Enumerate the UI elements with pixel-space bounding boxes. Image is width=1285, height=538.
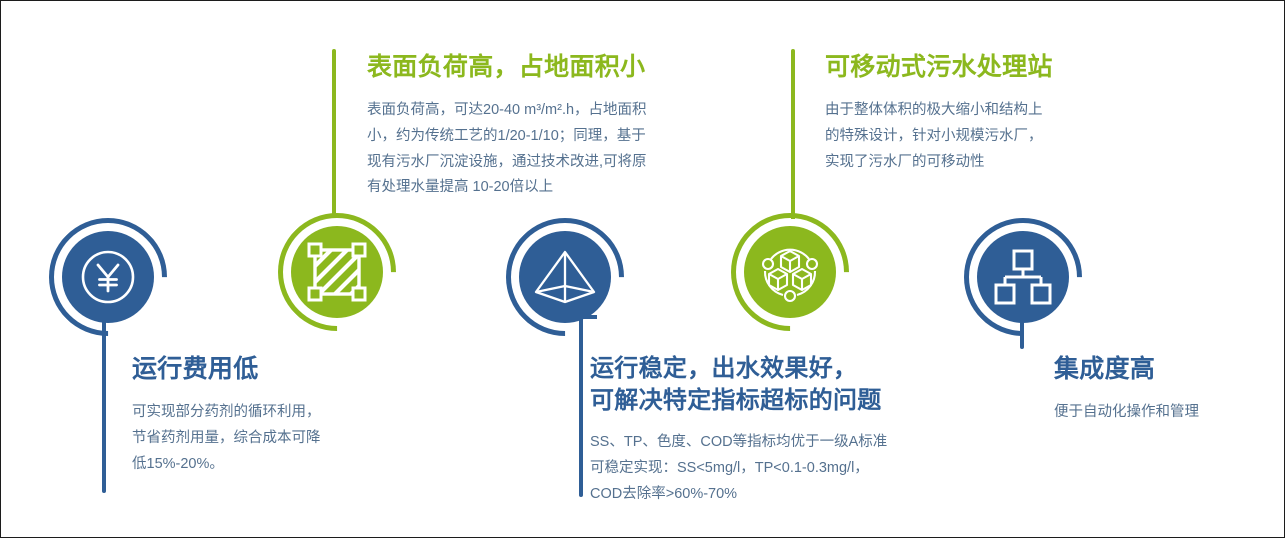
block-body: 便于自动化操作和管理	[1054, 400, 1284, 426]
icon-badge-surface-load	[278, 213, 396, 331]
hierarchy-tree-icon	[977, 231, 1069, 323]
text-block-integration: 集成度高 便于自动化操作和管理	[1054, 353, 1284, 426]
block-title: 运行稳定，出水效果好， 可解决特定指标超标的问题	[590, 353, 990, 416]
cubes-network-icon	[744, 226, 836, 318]
pyramid-wireframe-icon	[519, 231, 611, 323]
text-block-mobile-station: 可移动式污水处理站 由于整体体积的极大缩小和结构上 的特殊设计，针对小规模污水厂…	[825, 51, 1155, 175]
text-block-cost: 运行费用低 可实现部分药剂的循环利用， 节省药剂用量，综合成本可降 低15%-2…	[132, 353, 392, 477]
block-body: 可实现部分药剂的循环利用， 节省药剂用量，综合成本可降 低15%-20%。	[132, 400, 392, 477]
block-body: 表面负荷高，可达20-40 m³/m².h，占地面积 小，约为传统工艺的1/20…	[367, 98, 717, 201]
block-title: 可移动式污水处理站	[825, 51, 1155, 84]
icon-badge-integration	[964, 218, 1082, 336]
block-body: SS、TP、色度、COD等指标均优于一级A标准 可稳定实现：SS<5mg/l，T…	[590, 430, 990, 507]
block-title: 表面负荷高，占地面积小	[367, 51, 717, 84]
footprint-area-icon	[291, 226, 383, 318]
text-block-surface-load: 表面负荷高，占地面积小 表面负荷高，可达20-40 m³/m².h，占地面积 小…	[367, 51, 717, 201]
block-body: 由于整体体积的极大缩小和结构上 的特殊设计，针对小规模污水厂， 实现了污水厂的可…	[825, 98, 1155, 175]
icon-badge-stability	[506, 218, 624, 336]
icon-badge-cost	[49, 218, 167, 336]
yen-coin-icon	[62, 231, 154, 323]
block-title: 运行费用低	[132, 353, 392, 386]
infographic-canvas: 运行费用低 可实现部分药剂的循环利用， 节省药剂用量，综合成本可降 低15%-2…	[0, 0, 1285, 538]
icon-badge-mobile-station	[731, 213, 849, 331]
text-block-stability: 运行稳定，出水效果好， 可解决特定指标超标的问题 SS、TP、色度、COD等指标…	[590, 353, 990, 508]
block-title: 集成度高	[1054, 353, 1284, 386]
